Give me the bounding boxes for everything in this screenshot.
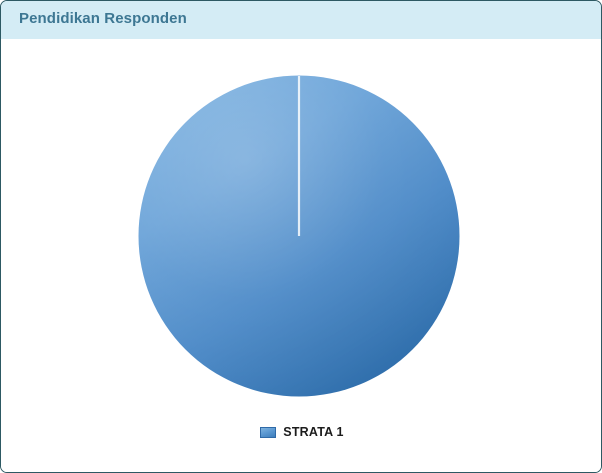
chart-header: Pendidikan Responden [1, 1, 602, 39]
legend-item-strata-1[interactable]: STRATA 1 [260, 425, 343, 439]
chart-plot-area: STRATA 1 [1, 39, 602, 473]
pie-chart [138, 75, 460, 397]
pie-chart-svg [138, 75, 460, 397]
chart-title: Pendidikan Responden [19, 10, 187, 27]
chart-legend: STRATA 1 [1, 420, 602, 444]
legend-label-strata-1: STRATA 1 [283, 425, 343, 439]
legend-swatch-strata-1 [260, 427, 276, 438]
chart-card: Pendidikan Responden [0, 0, 602, 473]
